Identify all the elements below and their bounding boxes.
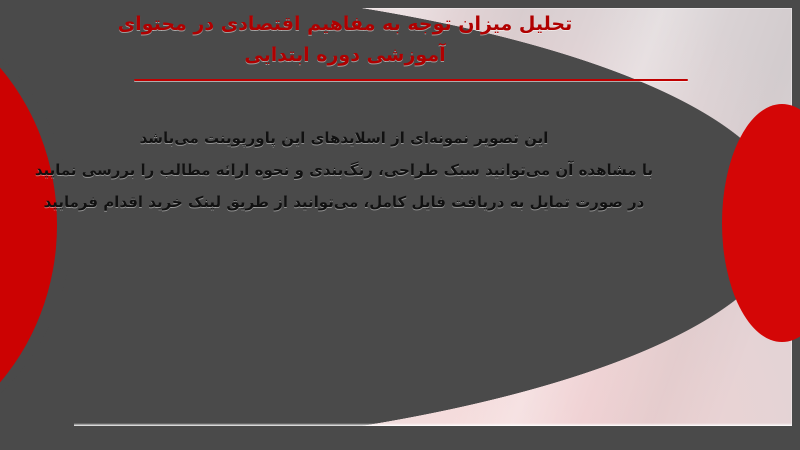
slide-body-line-2: با مشاهده آن می‌توانید سبک طراحی، رنگ‌بن… <box>0 154 688 186</box>
slide-title: تحلیل میزان توجه به مفاهیم اقتصادی در مح… <box>0 9 690 71</box>
slide-title-line-1: تحلیل میزان توجه به مفاهیم اقتصادی در مح… <box>0 9 690 40</box>
slide-title-line-2: آموزشی دوره ابتدایی <box>0 40 690 71</box>
slide-body-line-3: در صورت تمایل به دریافت فایل کامل، می‌تو… <box>0 186 688 218</box>
slide-body: این تصویر نمونه‌ای از اسلایدهای این پاور… <box>0 122 688 218</box>
slide-text-content: تحلیل میزان توجه به مفاهیم اقتصادی در مح… <box>0 0 800 450</box>
slide-body-line-1: این تصویر نمونه‌ای از اسلایدهای این پاور… <box>0 122 688 154</box>
frame-bottom-band <box>0 426 800 450</box>
presentation-slide: تحلیل میزان توجه به مفاهیم اقتصادی در مح… <box>0 0 800 450</box>
frame-top-band <box>0 0 800 8</box>
title-underline-rule <box>134 79 688 81</box>
